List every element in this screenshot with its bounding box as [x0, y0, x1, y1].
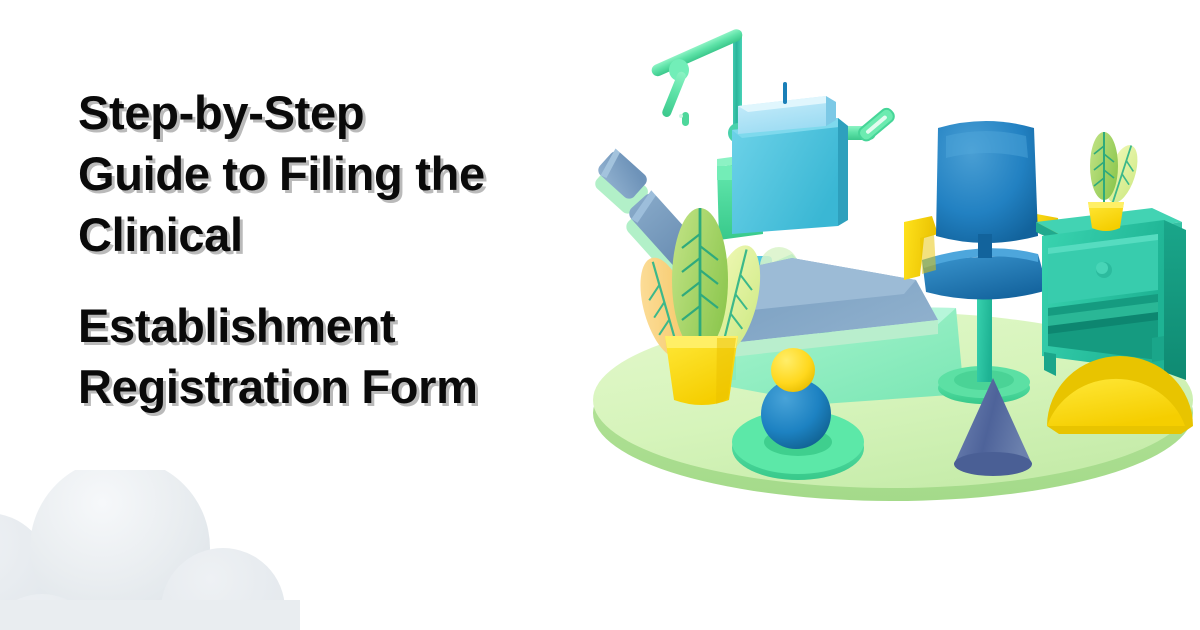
illustration-svg [586, 8, 1200, 506]
cloud-decoration [0, 470, 300, 630]
nightstand [1036, 208, 1186, 380]
headline-line-4: Establishment [78, 295, 598, 356]
yellow-sphere [771, 348, 815, 392]
dental-clinic-3d-scene [586, 8, 1200, 506]
equipment-cabinet [732, 82, 848, 234]
banner-root: Step-by-Step Guide to Filing the Clinica… [0, 0, 1200, 630]
headline-line-3: Clinical [78, 204, 598, 265]
headline-line-1: Step-by-Step [78, 82, 598, 143]
page-title: Step-by-Step Guide to Filing the Clinica… [78, 82, 598, 417]
headline-block-two: Establishment Registration Form [78, 295, 598, 417]
headline-block-one: Step-by-Step Guide to Filing the Clinica… [78, 82, 598, 265]
cloud-icon [0, 470, 300, 630]
headline-line-5: Registration Form [78, 356, 598, 417]
headline-line-2: Guide to Filing the [78, 143, 598, 204]
